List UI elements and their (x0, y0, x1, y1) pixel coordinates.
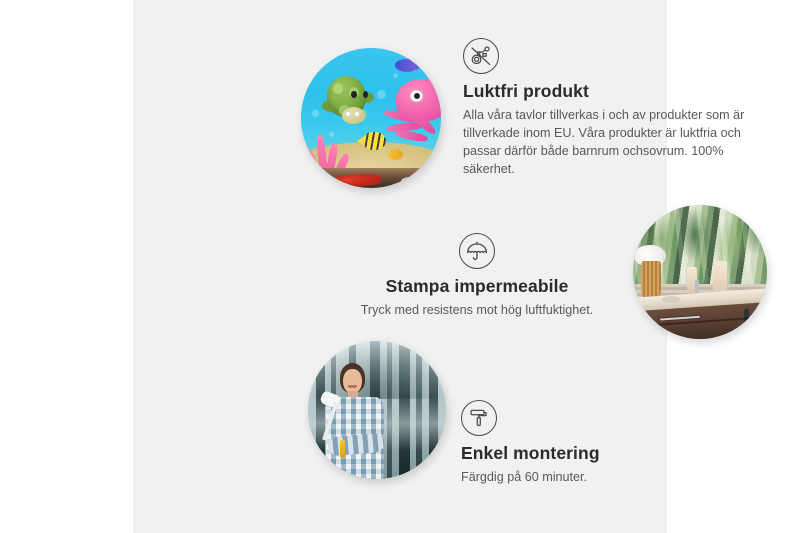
medallion-bathroom-botanical-wallpaper[interactable] (633, 205, 767, 339)
paint-roller-icon (461, 400, 497, 436)
medallion-sea-life-kids-mural[interactable] (301, 48, 441, 188)
content-panel: Luktfri produkt Alla våra tavlor tillver… (133, 0, 667, 533)
paint-roller-head (319, 390, 341, 408)
bathroom-artwork (633, 205, 767, 339)
no-fragrance-spray-bottle-icon (463, 38, 499, 74)
feature-luktfri-produkt: Luktfri produkt Alla våra tavlor tillver… (463, 38, 763, 179)
sea-life-artwork (301, 48, 441, 188)
turtle-head (342, 107, 365, 124)
turtle-pupil (351, 91, 356, 98)
small-fish-icon (388, 149, 403, 160)
umbrella-icon (459, 233, 495, 269)
medallion-decorator-with-paint-roller[interactable] (308, 341, 446, 479)
feature-title: Enkel montering (461, 443, 711, 464)
feature-title: Luktfri produkt (463, 81, 763, 102)
soap-dish-icon (662, 296, 679, 303)
yellow-tool-icon (340, 440, 345, 459)
turtle-pupil (363, 91, 368, 98)
feature-stampa-impermeabile: Stampa impermeabile Tryck med resistens … (347, 233, 607, 320)
feature-enkel-montering: Enkel montering Färgdig på 60 minuter. (461, 400, 711, 487)
feature-description: Alla våra tavlor tillverkas i och av pro… (463, 107, 745, 179)
feature-description: Färgdig på 60 minuter. (461, 469, 711, 487)
octopus-head (396, 79, 441, 121)
octopus-eye (410, 90, 423, 103)
screenshot-stage: Luktfri produkt Alla våra tavlor tillver… (0, 0, 800, 533)
feature-title: Stampa impermeabile (347, 276, 607, 297)
octopus-arm (394, 128, 428, 142)
bubble-icon (312, 110, 319, 117)
decorator-person (319, 363, 405, 479)
sea-turtle-icon (321, 76, 374, 126)
feature-description: Tryck med resistens mot hög luftfuktighe… (347, 302, 607, 320)
octopus-icon (385, 79, 441, 155)
sea-floor-shelf (301, 168, 441, 188)
decorator-artwork (308, 341, 446, 479)
blue-fish-icon (395, 59, 417, 72)
